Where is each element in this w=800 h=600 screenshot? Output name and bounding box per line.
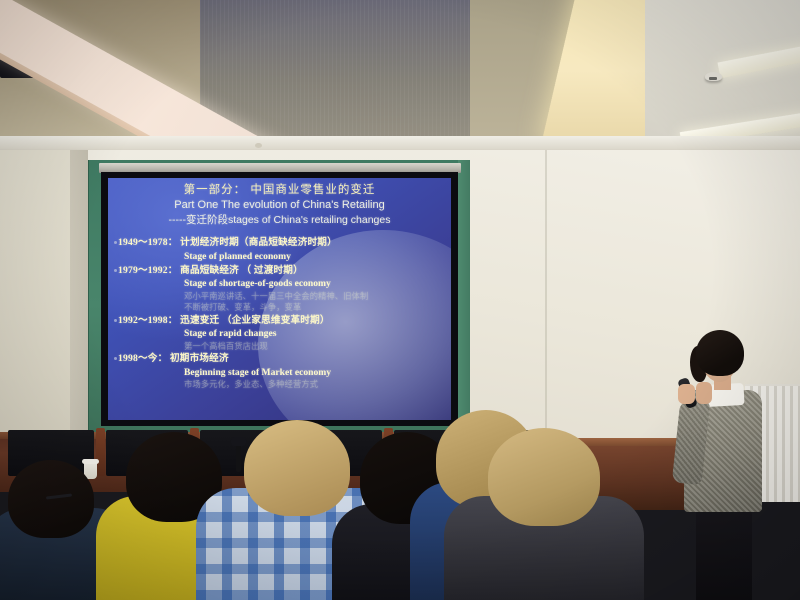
slide-title-chinese: 第一部分： 中国商业零售业的变迁	[114, 183, 445, 197]
slide-bullet-list: 1949～1978： 计划经济时期（商品短缺经济时期） Stage of pla…	[114, 236, 445, 391]
audience-head	[488, 428, 600, 526]
smoke-detector-icon	[705, 72, 722, 81]
presenter-hand-right	[696, 382, 712, 404]
bullet-dot-icon	[114, 357, 117, 360]
bullet-heading-chinese: 商品短缺经济 （ 过渡时期）	[180, 265, 303, 276]
slide-subtitle: -----变迁阶段stages of China's retailing cha…	[114, 214, 445, 228]
bullet-note-chinese: 邓小平南巡讲话、十一届三中全会的精神、旧体制	[118, 291, 445, 302]
projected-slide: 第一部分： 中国商业零售业的变迁 Part One The evolution …	[108, 178, 451, 420]
audience-head	[8, 460, 94, 538]
bullet-period-label: 1949～1978：	[118, 237, 178, 248]
bullet-period-label: 1992～1998：	[118, 315, 178, 326]
slide-bullet-period: 1992～1998： 迅速变迁 （企业家思维变革时期）	[118, 314, 445, 328]
bullet-heading-english: Beginning stage of Market economy	[118, 366, 445, 380]
presenter-hand-left	[678, 384, 695, 404]
bullet-heading-chinese: 迅速变迁 （企业家思维变革时期）	[180, 315, 330, 326]
slide-bullet-period: 1998～今： 初期市场经济	[118, 352, 445, 366]
bullet-note-chinese-2: 不断被打破、变革，斗争，变革	[118, 302, 445, 313]
lecture-hall-photo: 第一部分： 中国商业零售业的变迁 Part One The evolution …	[0, 0, 800, 600]
bullet-heading-chinese: 初期市场经济	[170, 353, 229, 364]
wall-left-edge	[70, 150, 88, 450]
slide-title-english: Part One The evolution of China's Retail…	[114, 198, 445, 212]
audience-member	[444, 430, 644, 600]
slide-bullet-period: 1979～1992： 商品短缺经济 （ 过渡时期）	[118, 264, 445, 278]
bullet-dot-icon	[114, 269, 117, 272]
ceiling-mesh-panel	[200, 0, 500, 145]
bullet-heading-english: Stage of rapid changes	[118, 327, 445, 341]
bullet-note-chinese: 第一个高档百货店出现	[118, 341, 445, 352]
ceiling	[0, 0, 800, 150]
presenter	[660, 330, 780, 600]
wall-seam	[545, 150, 547, 440]
slide-bullet-period: 1949～1978： 计划经济时期（商品短缺经济时期）	[118, 236, 445, 250]
presenter-hair	[696, 330, 744, 376]
presenter-trousers	[696, 508, 752, 600]
bullet-note-chinese: 市场多元化，多业态、多种经营方式	[118, 379, 445, 390]
bullet-heading-chinese: 计划经济时期（商品短缺经济时期）	[180, 237, 337, 248]
ceiling-fixture-nub	[255, 143, 262, 148]
wall-left	[0, 150, 78, 450]
bullet-heading-english: Stage of planned economy	[118, 250, 445, 264]
bullet-period-label: 1979～1992：	[118, 265, 178, 276]
bullet-period-label: 1998～今：	[118, 353, 167, 364]
bullet-dot-icon	[114, 241, 117, 244]
bullet-heading-english: Stage of shortage-of-goods economy	[118, 277, 445, 291]
bullet-dot-icon	[114, 319, 117, 322]
